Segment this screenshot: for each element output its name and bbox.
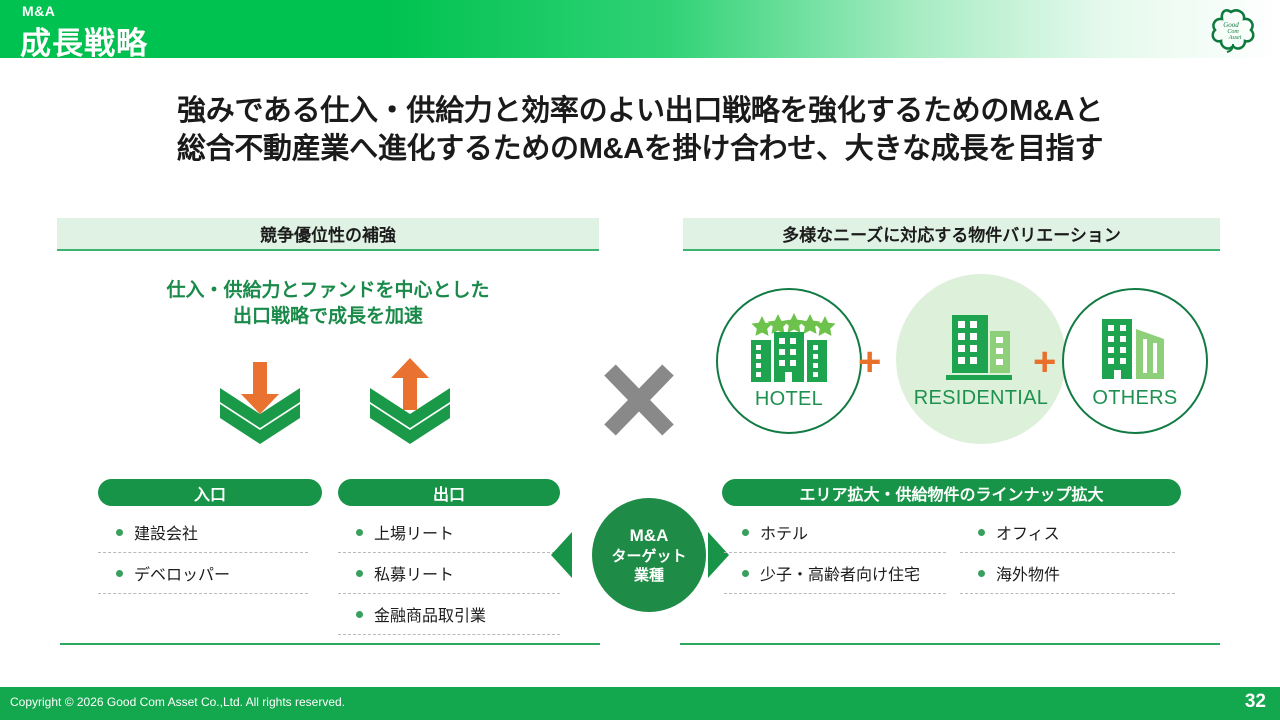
list-item: 少子・高齢者向け住宅 [724, 553, 946, 594]
circle-others: OTHERS [1062, 288, 1208, 434]
entry-list: 建設会社 デベロッパー [98, 512, 308, 594]
header-eyebrow: M&A [22, 3, 55, 19]
arrow-left-icon [551, 532, 572, 578]
hotel-buildings-icon [743, 312, 835, 384]
list-item: 建設会社 [98, 512, 308, 553]
residential-buildings-icon [938, 309, 1024, 383]
circle-caption: HOTEL [755, 388, 823, 411]
list-item-label: 少子・高齢者向け住宅 [760, 561, 920, 585]
ma-circle-line-1: M&A [630, 525, 669, 547]
circle-caption: OTHERS [1092, 387, 1177, 410]
expansion-list-col-1: ホテル 少子・高齢者向け住宅 [724, 512, 946, 594]
list-item: デベロッパー [98, 553, 308, 594]
list-item-label: 建設会社 [134, 520, 198, 544]
right-panel-rule [680, 643, 1220, 645]
ma-target-group: M&A ターゲット 業種 [551, 498, 729, 613]
pill-expansion: エリア拡大・供給物件のラインナップ拡大 [722, 479, 1181, 506]
page-number: 32 [1245, 691, 1266, 713]
left-panel-band: 競争優位性の補強 [57, 218, 599, 251]
list-item-label: 金融商品取引業 [374, 602, 486, 626]
multiply-icon [596, 358, 682, 442]
bullet-icon [742, 529, 749, 536]
slide-footer: Copyright © 2026 Good Com Asset Co.,Ltd.… [0, 687, 1280, 720]
left-subtitle-line-1: 仕入・供給力とファンドを中心とした [57, 278, 599, 304]
list-item-label: 海外物件 [996, 561, 1060, 585]
flow-icons [190, 352, 480, 452]
list-item: 金融商品取引業 [338, 594, 560, 635]
bullet-icon [742, 570, 749, 577]
office-buildings-icon [1094, 313, 1176, 383]
list-item: 私募リート [338, 553, 560, 594]
plus-icon-2: + [1033, 342, 1056, 382]
copyright-text: Copyright © 2026 Good Com Asset Co.,Ltd.… [10, 695, 345, 709]
expansion-list-col-2: オフィス 海外物件 [960, 512, 1175, 594]
right-panel-band: 多様なニーズに対応する物件バリエーション [683, 218, 1220, 251]
bullet-icon [356, 611, 363, 618]
page-title: 成長戦略 [20, 18, 148, 63]
ma-target-circle: M&A ターゲット 業種 [592, 498, 706, 612]
circle-hotel: HOTEL [716, 288, 862, 434]
headline-line-1: 強みである仕入・供給力と効率のよい出口戦略を強化するためのM&Aと [0, 92, 1280, 130]
slide: M&A 成長戦略 Good Com Asset 強みである仕入・供給力と効率のよ… [0, 0, 1280, 720]
svg-text:Good: Good [1223, 21, 1239, 29]
ma-circle-line-3: 業種 [634, 566, 664, 585]
svg-text:Asset: Asset [1228, 35, 1242, 41]
bullet-icon [978, 570, 985, 577]
download-stack-icon [220, 362, 300, 444]
bullet-icon [978, 529, 985, 536]
left-panel-subtitle: 仕入・供給力とファンドを中心とした 出口戦略で成長を加速 [57, 278, 599, 330]
list-item-label: 私募リート [374, 561, 454, 585]
slide-header: M&A 成長戦略 Good Com Asset [0, 0, 1280, 58]
bullet-icon [356, 570, 363, 577]
list-item-label: デベロッパー [134, 561, 230, 585]
list-item: ホテル [724, 512, 946, 553]
pill-exit: 出口 [338, 479, 560, 506]
bullet-icon [356, 529, 363, 536]
list-item-label: ホテル [760, 520, 808, 544]
upload-stack-icon [370, 358, 450, 444]
pill-entry: 入口 [98, 479, 322, 506]
list-item-label: オフィス [996, 520, 1060, 544]
list-item-label: 上場リート [374, 520, 454, 544]
left-panel-rule [60, 643, 600, 645]
list-item: 海外物件 [960, 553, 1175, 594]
list-item: 上場リート [338, 512, 560, 553]
bullet-icon [116, 570, 123, 577]
headline-line-2: 総合不動産業へ進化するためのM&Aを掛け合わせ、大きな成長を目指す [0, 130, 1280, 168]
plus-icon-1: + [858, 342, 881, 382]
list-item: オフィス [960, 512, 1175, 553]
ma-circle-line-2: ターゲット [611, 547, 686, 566]
circle-caption: RESIDENTIAL [914, 387, 1048, 410]
headline: 強みである仕入・供給力と効率のよい出口戦略を強化するためのM&Aと 総合不動産業… [0, 92, 1280, 169]
exit-list: 上場リート 私募リート 金融商品取引業 [338, 512, 560, 635]
property-type-circles: HOTEL + RESIDENTIAL + [700, 282, 1220, 452]
left-subtitle-line-2: 出口戦略で成長を加速 [57, 304, 599, 330]
good-com-asset-logo: Good Com Asset [1200, 6, 1262, 54]
bullet-icon [116, 529, 123, 536]
